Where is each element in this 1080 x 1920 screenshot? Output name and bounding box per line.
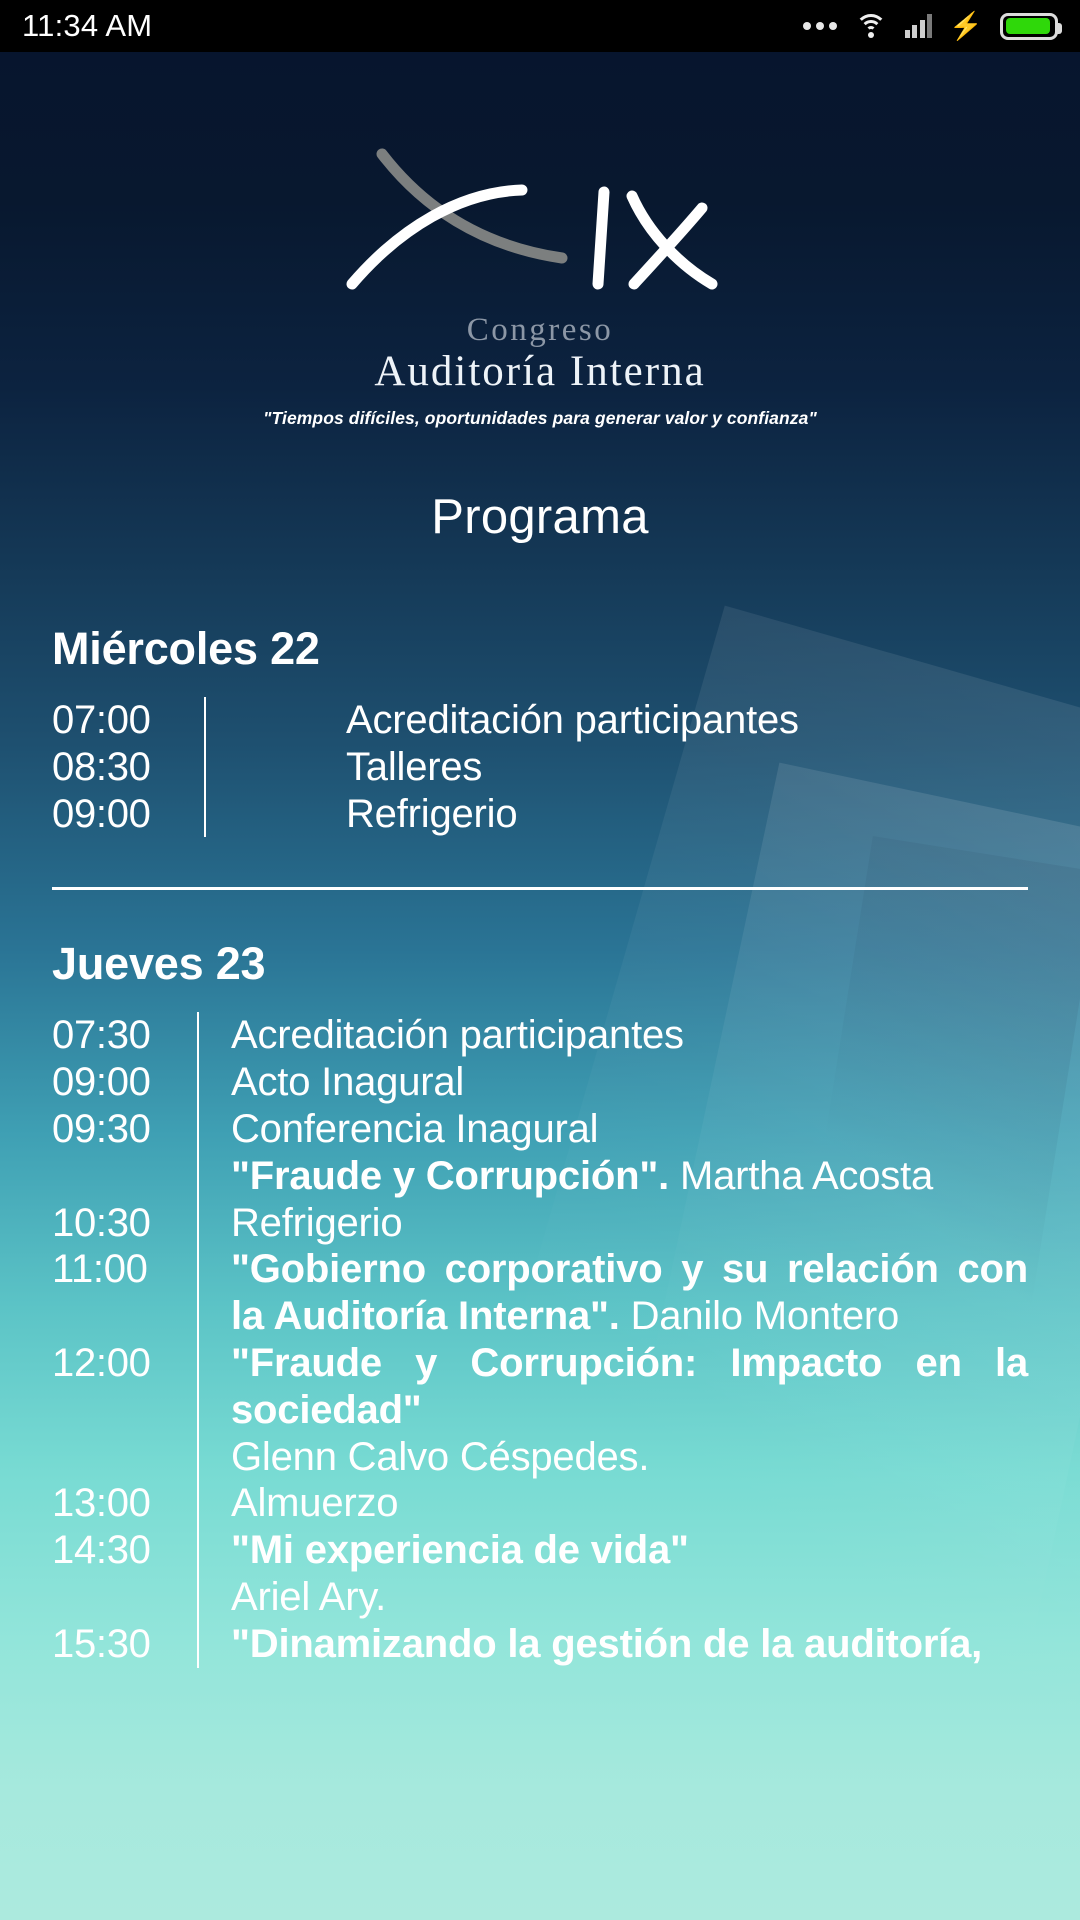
row-speaker: Danilo Montero — [620, 1294, 899, 1338]
row-description: "Mi experiencia de vida" — [199, 1527, 1028, 1574]
row-time: 13:00 — [52, 1480, 197, 1527]
schedule-row[interactable]: 09:00 Acto Inagural — [52, 1059, 1028, 1106]
battery-icon — [1000, 13, 1058, 40]
schedule-day-miercoles-22: Miércoles 22 07:00 Acreditación particip… — [0, 623, 1080, 841]
row-time: 09:00 — [52, 791, 204, 838]
congress-logo: Congreso Auditoría Interna "Tiempos difí… — [0, 136, 1080, 429]
schedule-row[interactable]: 08:30 Talleres — [52, 744, 1028, 791]
row-time: 09:30 — [52, 1106, 197, 1153]
status-bar-clock: 11:34 AM — [22, 8, 152, 44]
schedule-row[interactable]: 10:30 Refrigerio — [52, 1200, 1028, 1247]
schedule-row[interactable]: "Fraude y Corrupción". Martha Acosta — [52, 1153, 1028, 1200]
row-description: Ariel Ary. — [199, 1574, 1028, 1621]
schedule-row[interactable]: 14:30 "Mi experiencia de vida" — [52, 1527, 1028, 1574]
signal-icon — [905, 14, 933, 38]
row-description: Acreditación participantes — [199, 1012, 1028, 1059]
schedule-row[interactable]: 11:00 "Gobierno corporativo y su relació… — [52, 1246, 1028, 1340]
row-time: 15:30 — [52, 1621, 197, 1668]
row-description: Conferencia Inagural — [199, 1106, 1028, 1153]
row-description: "Dinamizando la gestión de la auditoría, — [199, 1621, 1028, 1668]
row-title-bold: "Mi experiencia de vida" — [231, 1528, 689, 1572]
more-dots-icon — [803, 22, 837, 30]
schedule-list: Miércoles 22 07:00 Acreditación particip… — [0, 623, 1080, 1668]
program-page: Congreso Auditoría Interna "Tiempos difí… — [0, 52, 1080, 1920]
wifi-icon — [854, 13, 888, 39]
schedule-row[interactable]: 07:30 Acreditación participantes — [52, 1012, 1028, 1059]
row-title-bold: "Dinamizando la gestión de la auditoría, — [231, 1622, 982, 1666]
row-description: Glenn Calvo Céspedes. — [199, 1434, 1028, 1481]
day-title: Miércoles 22 — [52, 623, 1028, 675]
schedule-row[interactable]: 15:30 "Dinamizando la gestión de la audi… — [52, 1621, 1028, 1668]
row-description: Refrigerio — [199, 1200, 1028, 1247]
phone-screen: 11:34 AM ⚡ — [0, 0, 1080, 1920]
xix-logo-icon — [330, 136, 750, 306]
schedule-row[interactable]: 12:00 "Fraude y Corrupción: Impacto en l… — [52, 1340, 1028, 1434]
page-title: Programa — [0, 489, 1080, 545]
row-title-bold: "Fraude y Corrupción". — [231, 1154, 669, 1198]
day-rows: 07:30 Acreditación participantes 09:00 A… — [52, 1012, 1028, 1667]
logo-line-auditoria-interna: Auditoría Interna — [0, 347, 1080, 396]
status-bar-icons: ⚡ — [803, 13, 1058, 40]
row-time: 11:00 — [52, 1246, 197, 1293]
row-description: Acto Inagural — [199, 1059, 1028, 1106]
day-rows: 07:00 Acreditación participantes 08:30 T… — [52, 697, 1028, 841]
status-bar: 11:34 AM ⚡ — [0, 0, 1080, 52]
row-description: "Gobierno corporativo y su relación con … — [199, 1246, 1028, 1340]
row-title-bold: "Fraude y Corrupción: Impacto en la soci… — [231, 1341, 1028, 1432]
row-description: "Fraude y Corrupción". Martha Acosta — [199, 1153, 1028, 1200]
row-time: 08:30 — [52, 744, 204, 791]
logo-line-congreso: Congreso — [0, 312, 1080, 349]
schedule-row[interactable]: 13:00 Almuerzo — [52, 1480, 1028, 1527]
schedule-row[interactable]: 09:00 Refrigerio — [52, 791, 1028, 838]
row-description: "Fraude y Corrupción: Impacto en la soci… — [199, 1340, 1028, 1434]
row-description: Acreditación participantes — [206, 697, 1028, 744]
schedule-row[interactable]: 07:00 Acreditación participantes — [52, 697, 1028, 744]
spacer — [0, 890, 1080, 938]
schedule-row[interactable]: Ariel Ary. — [52, 1574, 1028, 1621]
row-time: 14:30 — [52, 1527, 197, 1574]
row-description: Refrigerio — [206, 791, 1028, 838]
day-title: Jueves 23 — [52, 938, 1028, 990]
row-description: Talleres — [206, 744, 1028, 791]
schedule-row[interactable]: 09:30 Conferencia Inagural — [52, 1106, 1028, 1153]
row-time: 12:00 — [52, 1340, 197, 1387]
charging-bolt-icon: ⚡ — [949, 13, 983, 40]
row-time: 07:00 — [52, 697, 204, 744]
row-time: 07:30 — [52, 1012, 197, 1059]
row-description: Almuerzo — [199, 1480, 1028, 1527]
schedule-day-jueves-23: Jueves 23 07:30 Acreditación participant… — [0, 938, 1080, 1667]
row-time: 09:00 — [52, 1059, 197, 1106]
logo-tagline: "Tiempos difíciles, oportunidades para g… — [0, 408, 1080, 429]
row-speaker: Martha Acosta — [669, 1154, 933, 1198]
row-time: 10:30 — [52, 1200, 197, 1247]
schedule-row[interactable]: Glenn Calvo Céspedes. — [52, 1434, 1028, 1481]
